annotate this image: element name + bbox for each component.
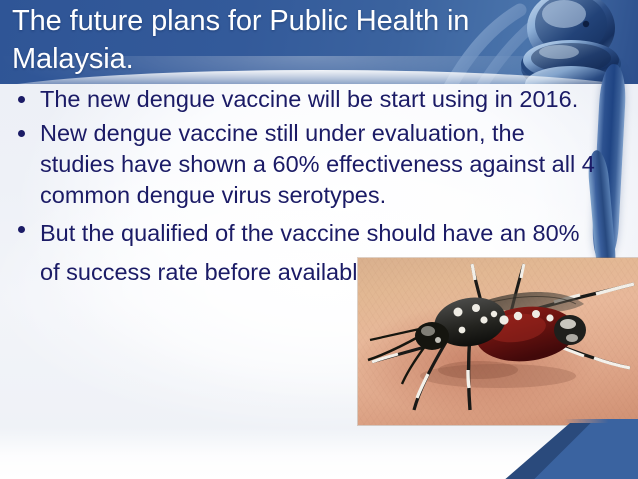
slide-header-band: The future plans for Public Health in Ma… [0,0,638,84]
mosquito-photo [358,258,638,425]
corner-accent-strip [564,419,638,423]
list-item: The new dengue vaccine will be start usi… [8,84,598,115]
presentation-slide: The future plans for Public Health in Ma… [0,0,638,479]
list-item: New dengue vaccine still under evaluatio… [8,118,598,211]
slide-title: The future plans for Public Health in Ma… [12,2,572,78]
mosquito-illustration [358,258,638,425]
